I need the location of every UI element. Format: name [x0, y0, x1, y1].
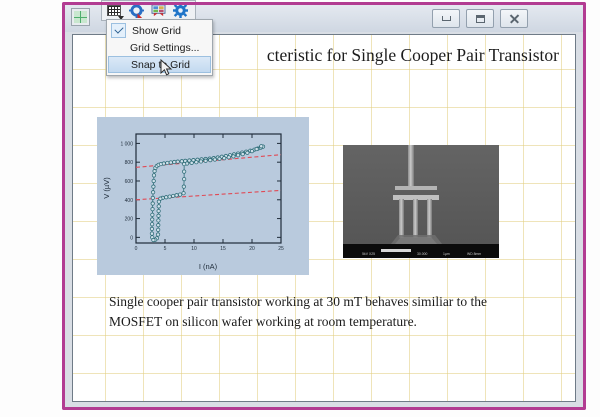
- shape-align-icon[interactable]: [126, 2, 146, 20]
- svg-text:WD 8mm: WD 8mm: [467, 252, 481, 256]
- grid-icon[interactable]: [104, 2, 124, 20]
- maximize-button[interactable]: [466, 9, 494, 28]
- svg-text:1µm: 1µm: [443, 252, 450, 256]
- iv-chart[interactable]: 0510152025 02004006008001 000 I (nA) V (…: [97, 117, 309, 275]
- svg-text:0: 0: [130, 235, 133, 241]
- minimize-button[interactable]: [432, 9, 460, 28]
- slide-caption: Single cooper pair transistor working at…: [109, 292, 539, 331]
- svg-text:600: 600: [125, 179, 134, 185]
- grid-toolbar[interactable]: [101, 0, 196, 21]
- svg-text:800: 800: [125, 160, 134, 166]
- menu-item-label: Show Grid: [132, 25, 181, 37]
- svg-text:25: 25: [278, 246, 284, 252]
- close-button[interactable]: [500, 9, 528, 28]
- app-window-icon: [71, 8, 90, 26]
- svg-text:I (nA): I (nA): [199, 262, 218, 271]
- svg-text:10: 10: [191, 246, 197, 252]
- svg-text:V (µV): V (µV): [102, 177, 111, 199]
- svg-text:1 000: 1 000: [120, 141, 133, 147]
- svg-text:0: 0: [135, 246, 138, 252]
- sem-micrograph[interactable]: 5kV X25 30.000 1µm WD 8mm: [343, 145, 499, 258]
- svg-text:400: 400: [125, 198, 134, 204]
- svg-text:5: 5: [164, 246, 167, 252]
- menu-item-show-grid[interactable]: Show Grid: [107, 22, 212, 39]
- slide-canvas[interactable]: cteristic for Single Cooper Pair Transis…: [72, 34, 576, 402]
- menu-item-grid-settings[interactable]: Grid Settings...: [107, 39, 212, 56]
- color-palette-icon[interactable]: [148, 2, 168, 20]
- screen: cteristic for Single Cooper Pair Transis…: [0, 0, 600, 417]
- sem-micrograph-svg: 5kV X25 30.000 1µm WD 8mm: [343, 145, 499, 258]
- window-controls: [432, 9, 528, 28]
- svg-text:30.000: 30.000: [417, 252, 427, 256]
- svg-text:200: 200: [125, 217, 134, 223]
- check-icon: [111, 23, 126, 38]
- svg-text:5kV X25: 5kV X25: [362, 252, 375, 256]
- mouse-cursor: [160, 59, 174, 77]
- svg-text:15: 15: [220, 246, 226, 252]
- gear-icon[interactable]: [170, 2, 190, 20]
- menu-item-label: Grid Settings...: [130, 42, 199, 54]
- svg-text:20: 20: [249, 246, 255, 252]
- iv-chart-svg: 0510152025 02004006008001 000 I (nA) V (…: [97, 117, 309, 275]
